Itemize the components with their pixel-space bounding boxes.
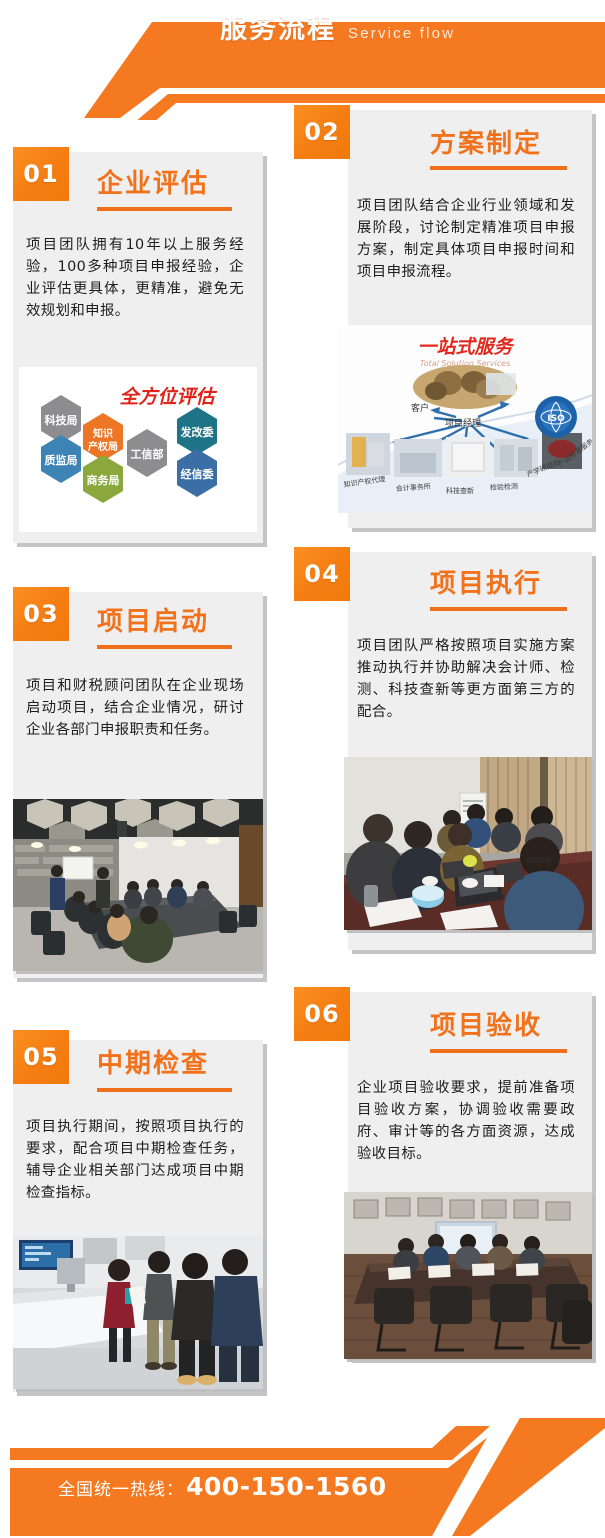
card-06-title-rule — [430, 1049, 567, 1053]
footer-hotline-label: 全国统一热线： — [58, 1475, 184, 1500]
card-03-media — [13, 799, 263, 971]
card-06-media — [344, 1192, 592, 1359]
card-03-body: 项目和财税顾问团队在企业现场启动项目，结合企业情况，研讨企业各部门申报职责和任务… — [26, 676, 244, 742]
photo-standing-group-svg — [13, 1236, 263, 1389]
svg-text:ISO: ISO — [547, 414, 565, 424]
card-05-body: 项目执行期间，按照项目执行的要求，配合项目中期检查任务，辅导企业相关部门达成项目… — [26, 1117, 244, 1205]
card-02-body: 项目团队结合企业行业领域和发展阶段，讨论制定精准项目申报方案，制定具体项目申报时… — [357, 196, 575, 284]
photo-meeting-room-svg — [13, 799, 263, 971]
footer-hotline-number: 400-150-1560 — [186, 1472, 387, 1501]
svg-text:知识: 知识 — [92, 427, 113, 440]
card-01-number: 01 — [13, 147, 69, 201]
service-flow-poster: 服务流程 Service flow 01 企业评估 项目团队拥有10年以上服务经… — [0, 0, 605, 1538]
photo-conference-svg — [344, 1192, 592, 1359]
page-footer: 全国统一热线： 400-150-1560 — [0, 1418, 605, 1538]
header-title-cn: 服务流程 — [220, 16, 336, 43]
card-05-title: 中期检查 — [97, 1050, 209, 1076]
svg-text:经信委: 经信委 — [181, 467, 215, 481]
card-01-body: 项目团队拥有10年以上服务经验，100多种项目申报经验，企业评估更具体，更精准，… — [26, 235, 244, 323]
svg-text:检验检测: 检验检测 — [490, 482, 518, 492]
card-05-number: 05 — [13, 1030, 69, 1084]
card-04-title-rule — [430, 607, 567, 611]
header-title-group: 服务流程 Service flow — [220, 16, 600, 60]
card-03-title: 项目启动 — [97, 608, 209, 634]
card-02-media: 一站式服务 Total Solution Services — [338, 325, 592, 513]
service-label-pm: 项目经理 — [445, 417, 481, 429]
card-02-title: 方案制定 — [430, 130, 542, 156]
card-06-title: 项目验收 — [430, 1012, 542, 1038]
footer-hotline: 全国统一热线： 400-150-1560 — [58, 1472, 387, 1501]
card-01-title: 企业评估 — [97, 170, 209, 196]
svg-text:商务局: 商务局 — [87, 473, 120, 487]
hex-diagram-svg: 科技局 知识 产权局 发改委 质监局 工信部 — [19, 367, 257, 532]
svg-text:工信部: 工信部 — [131, 447, 164, 461]
card-01-title-rule — [97, 207, 232, 211]
service-label-client: 客户 — [411, 402, 429, 414]
svg-text:科技查新: 科技查新 — [446, 486, 474, 495]
header-title-en: Service flow — [348, 26, 455, 41]
card-01-media: 科技局 知识 产权局 发改委 质监局 工信部 — [19, 367, 257, 532]
hex-diagram-heading: 全方位评估 — [119, 386, 217, 408]
service-diagram-svg: 一站式服务 Total Solution Services — [338, 325, 592, 513]
card-04-title: 项目执行 — [430, 570, 542, 596]
svg-text:科技局: 科技局 — [45, 413, 78, 427]
service-diagram-heading: 一站式服务 — [417, 336, 515, 358]
card-03-title-rule — [97, 645, 232, 649]
card-05-title-rule — [97, 1088, 232, 1092]
svg-text:质监局: 质监局 — [45, 453, 78, 467]
card-04-body: 项目团队严格按照项目实施方案推动执行并协助解决会计师、检测、科技查新等更方面第三… — [357, 636, 575, 724]
card-04-media — [344, 757, 592, 930]
page-header: 服务流程 Service flow — [0, 0, 605, 120]
card-05-media — [13, 1236, 263, 1389]
photo-worktable-svg — [344, 757, 592, 930]
card-02-title-rule — [430, 166, 567, 170]
svg-text:产权局: 产权局 — [88, 440, 118, 453]
svg-text:发改委: 发改委 — [180, 425, 215, 439]
card-06-number: 06 — [294, 987, 350, 1041]
card-06-body: 企业项目验收要求，提前准备项目验收方案，协调验收需要政府、审计等的各方面资源，达… — [357, 1078, 575, 1166]
card-04-number: 04 — [294, 547, 350, 601]
card-02-number: 02 — [294, 105, 350, 159]
card-03-number: 03 — [13, 587, 69, 641]
iso-badge-icon: ISO — [535, 396, 577, 438]
